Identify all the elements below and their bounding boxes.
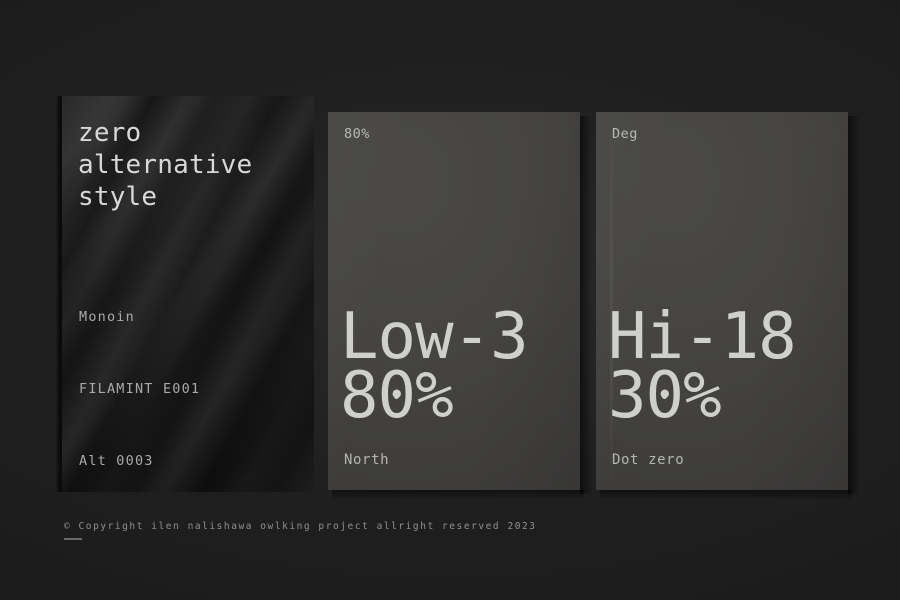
poster-2-value-zero: 0 [378, 367, 416, 426]
poster-1-meta-typeface-name: Monoin [79, 309, 135, 325]
poster-3-value-suffix: % [683, 359, 721, 433]
poster-3-tag: Deg [612, 126, 638, 142]
poster-3-drop-shadow-bottom [600, 490, 852, 500]
footer-copyright: © Copyright ilen nalishawa owlking proje… [64, 521, 537, 532]
poster-1-headline-line-2: alternative [78, 150, 300, 182]
poster-2-tag: 80% [344, 126, 370, 142]
poster-1-headline-line-1: zero [78, 118, 300, 150]
poster-2-value-suffix: % [415, 359, 453, 433]
poster-1-meta-alt-code: Alt 0003 [79, 453, 154, 469]
poster-3-caption: Dot zero [612, 452, 684, 468]
poster-1-meta-filament-code: FILAMINT E001 [79, 381, 200, 397]
poster-2-drop-shadow-bottom [332, 490, 584, 500]
poster-2-drop-shadow-right [580, 116, 592, 494]
poster-1-headline: zero alternative style [78, 118, 300, 214]
poster-card-low-3[interactable]: 80% Low-3 80% North [328, 112, 580, 490]
poster-2-value-block: Low-3 80% [340, 308, 528, 426]
poster-2-tag-text: 80% [344, 126, 370, 142]
poster-2-caption: North [344, 452, 389, 468]
poster-card-zero-alternative-style[interactable]: zero alternative style Monoin FILAMINT E… [62, 96, 314, 492]
poster-mockup-canvas: zero alternative style Monoin FILAMINT E… [0, 0, 900, 600]
poster-3-value-block: Hi-18 30% [608, 308, 796, 426]
poster-3-value-prefix: 3 [608, 359, 646, 433]
poster-card-hi-18[interactable]: Deg Hi-18 30% Dot zero [596, 112, 848, 490]
poster-3-value-zero: 0 [646, 367, 684, 426]
poster-1-headline-line-3: style [78, 182, 300, 214]
poster-2-value: 80% [340, 367, 528, 426]
poster-2-value-prefix: 8 [340, 359, 378, 433]
footer-rule [64, 538, 82, 540]
poster-3-value: 30% [608, 367, 796, 426]
poster-3-drop-shadow-right [848, 116, 860, 494]
